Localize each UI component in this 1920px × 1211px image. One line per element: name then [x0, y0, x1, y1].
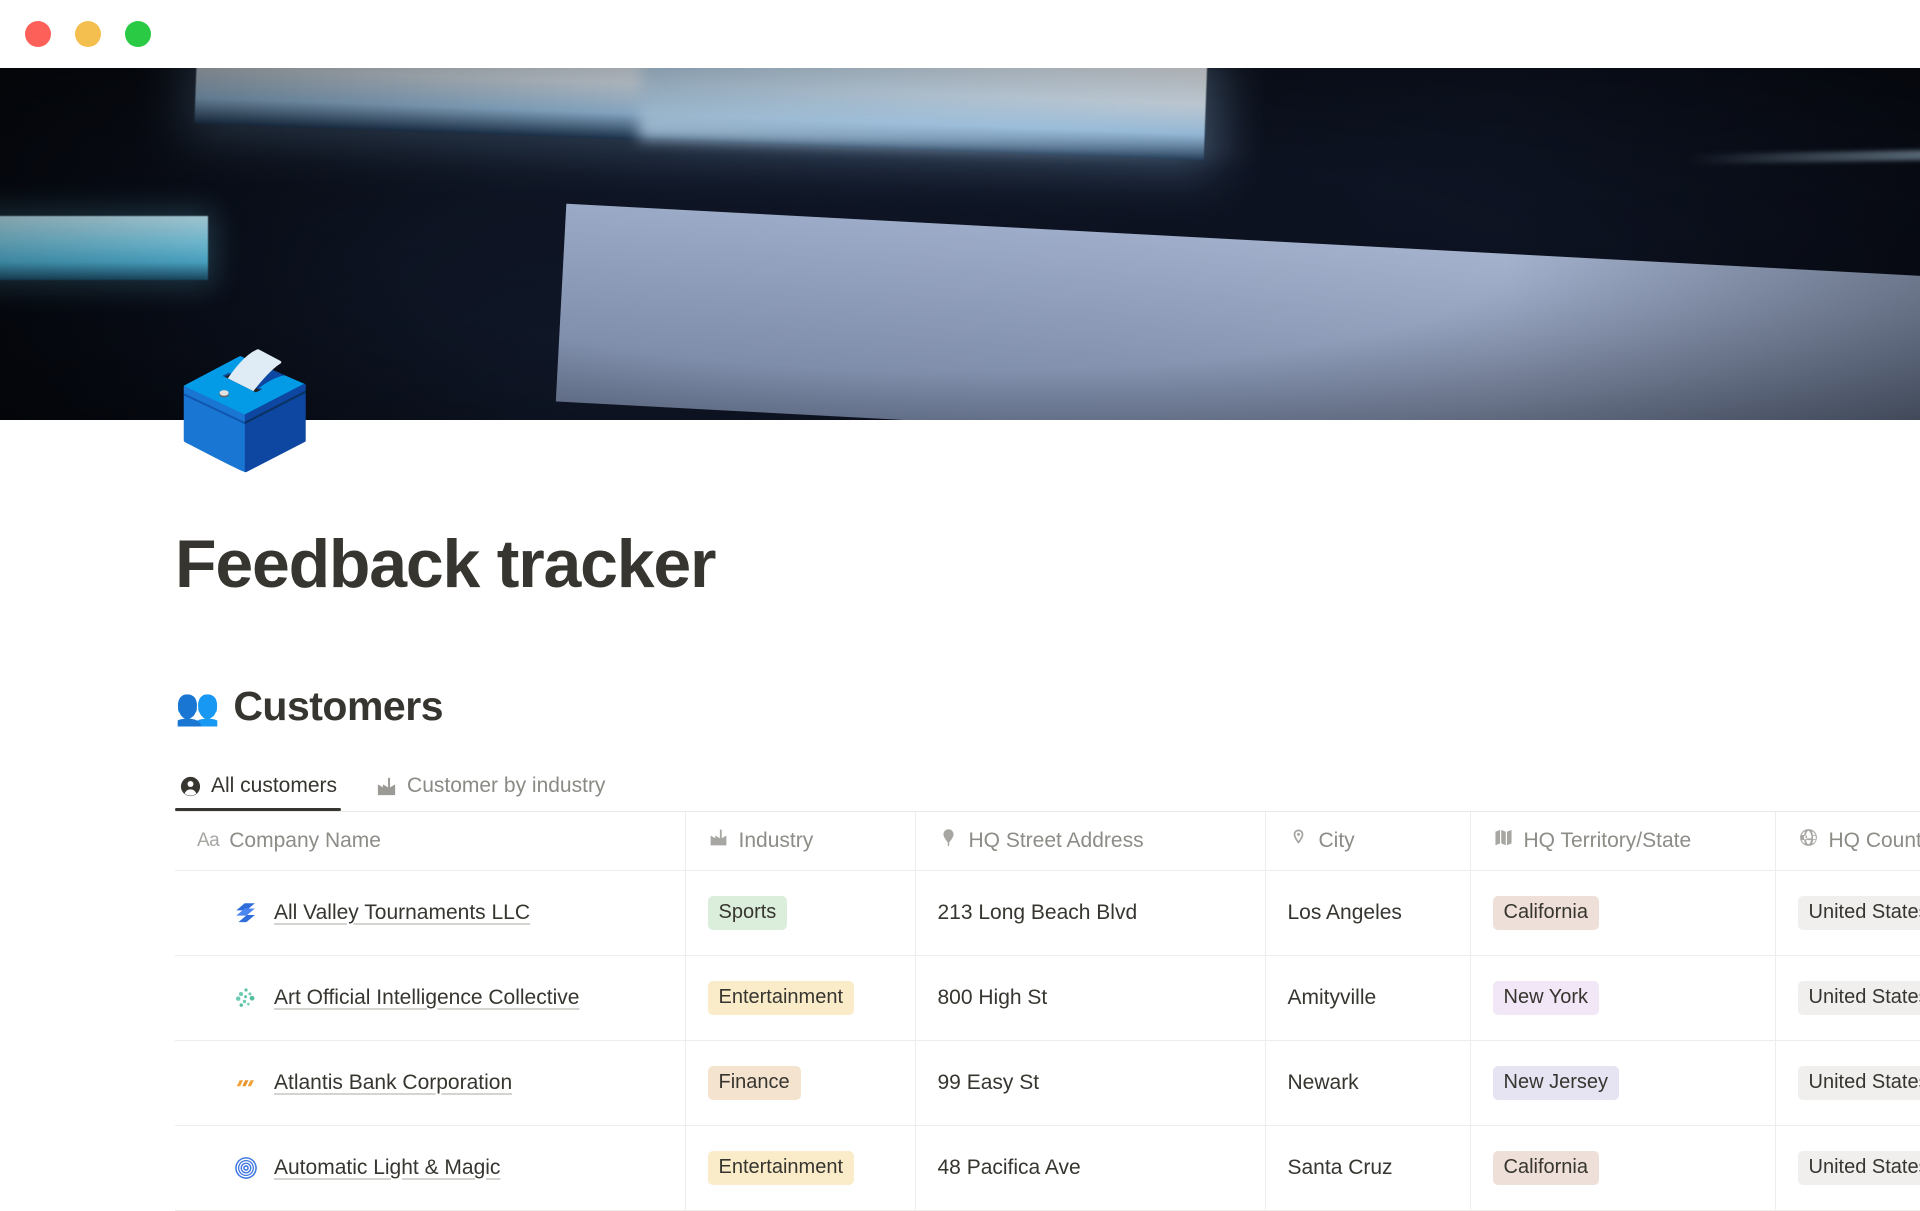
company-name-link[interactable]: Atlantis Bank Corporation — [274, 1071, 512, 1095]
table-body: All Valley Tournaments LLC Sports 213 Lo… — [175, 870, 1920, 1210]
traffic-light-group — [25, 21, 151, 47]
table-row[interactable]: Atlantis Bank Corporation Finance 99 Eas… — [175, 1040, 1920, 1125]
table-row[interactable]: All Valley Tournaments LLC Sports 213 Lo… — [175, 870, 1920, 955]
cell-industry[interactable]: Entertainment — [685, 1125, 915, 1210]
database-view-tabs: All customers Customer by industry — [175, 759, 1920, 811]
cell-city[interactable]: Amityville — [1265, 955, 1470, 1040]
cell-company-name[interactable]: Atlantis Bank Corporation — [175, 1040, 685, 1125]
cell-hq-territory-state[interactable]: California — [1470, 870, 1775, 955]
cell-city[interactable]: Los Angeles — [1265, 870, 1470, 955]
table-header: Aa Company Name Industry — [175, 812, 1920, 870]
tab-customer-by-industry-label: Customer by industry — [407, 774, 605, 798]
column-header-city[interactable]: City — [1265, 812, 1470, 870]
table-header-row: Aa Company Name Industry — [175, 812, 1920, 870]
column-header-hq-territory-state[interactable]: HQ Territory/State — [1470, 812, 1775, 870]
state-tag: California — [1493, 896, 1599, 930]
cell-hq-street-address[interactable]: 800 High St — [915, 955, 1265, 1040]
page-title[interactable]: Feedback tracker — [175, 530, 1920, 598]
page-icon[interactable]: 🗳️ — [175, 345, 307, 477]
table-row[interactable]: Automatic Light & Magic Entertainment 48… — [175, 1125, 1920, 1210]
industry-tag: Entertainment — [708, 1151, 855, 1185]
cell-company-name[interactable]: Automatic Light & Magic — [175, 1125, 685, 1210]
tab-all-customers[interactable]: All customers — [175, 774, 341, 811]
section-heading-customers: 👥 Customers — [175, 684, 1920, 729]
map-folded-icon — [1493, 827, 1514, 854]
aa-text-icon: Aa — [197, 830, 219, 852]
industry-tag: Finance — [708, 1066, 801, 1100]
cell-hq-territory-state[interactable]: California — [1470, 1125, 1775, 1210]
factory-icon — [708, 827, 729, 854]
column-header-company-name[interactable]: Aa Company Name — [175, 812, 685, 870]
minimize-button[interactable] — [75, 21, 101, 47]
cell-company-name[interactable]: Art Official Intelligence Collective — [175, 955, 685, 1040]
cell-hq-country[interactable]: United States — [1775, 955, 1920, 1040]
country-tag: United States — [1798, 896, 1920, 930]
cell-hq-country[interactable]: United States — [1775, 870, 1920, 955]
cell-city[interactable]: Santa Cruz — [1265, 1125, 1470, 1210]
orange-stripes-icon — [233, 1070, 259, 1096]
globe-icon — [1798, 827, 1819, 854]
table-row[interactable]: Art Official Intelligence Collective Ent… — [175, 955, 1920, 1040]
column-header-hq-street-address-label: HQ Street Address — [969, 829, 1144, 853]
section-heading-label: Customers — [233, 684, 443, 729]
column-header-hq-street-address[interactable]: HQ Street Address — [915, 812, 1265, 870]
people-emoji-icon: 👥 — [175, 687, 219, 727]
column-header-industry-label: Industry — [739, 829, 814, 853]
column-header-industry[interactable]: Industry — [685, 812, 915, 870]
company-name-link[interactable]: Automatic Light & Magic — [274, 1156, 500, 1180]
map-pin-filled-icon — [938, 827, 959, 854]
person-icon — [179, 775, 202, 798]
column-header-hq-country-label: HQ Country — [1829, 829, 1920, 853]
window-titlebar — [0, 0, 1920, 68]
maximize-button[interactable] — [125, 21, 151, 47]
cell-city[interactable]: Newark — [1265, 1040, 1470, 1125]
state-tag: New York — [1493, 981, 1600, 1015]
cell-hq-street-address[interactable]: 99 Easy St — [915, 1040, 1265, 1125]
cell-industry[interactable]: Entertainment — [685, 955, 915, 1040]
industry-tag: Entertainment — [708, 981, 855, 1015]
factory-icon — [375, 775, 398, 798]
column-header-hq-territory-state-label: HQ Territory/State — [1524, 829, 1692, 853]
tab-customer-by-industry[interactable]: Customer by industry — [371, 774, 609, 811]
cell-company-name[interactable]: All Valley Tournaments LLC — [175, 870, 685, 955]
column-header-company-name-label: Company Name — [229, 829, 381, 853]
cell-hq-country[interactable]: United States — [1775, 1125, 1920, 1210]
cell-industry[interactable]: Sports — [685, 870, 915, 955]
page-content: 🗳️ Feedback tracker 👥 Customers All cust… — [0, 420, 1920, 1211]
country-tag: United States — [1798, 1066, 1920, 1100]
teal-dots-icon — [233, 985, 259, 1011]
customers-table: Aa Company Name Industry — [175, 812, 1920, 1211]
cell-hq-territory-state[interactable]: New Jersey — [1470, 1040, 1775, 1125]
state-tag: California — [1493, 1151, 1599, 1185]
blue-spiral-icon — [233, 1155, 259, 1181]
industry-tag: Sports — [708, 896, 788, 930]
cell-hq-street-address[interactable]: 213 Long Beach Blvd — [915, 870, 1265, 955]
cell-industry[interactable]: Finance — [685, 1040, 915, 1125]
cell-hq-territory-state[interactable]: New York — [1470, 955, 1775, 1040]
customers-table-container[interactable]: Aa Company Name Industry — [175, 811, 1920, 1211]
cell-hq-country[interactable]: United States — [1775, 1040, 1920, 1125]
country-tag: United States — [1798, 981, 1920, 1015]
map-pin-outline-icon — [1288, 827, 1309, 854]
column-header-hq-country[interactable]: HQ Country — [1775, 812, 1920, 870]
company-name-link[interactable]: All Valley Tournaments LLC — [274, 901, 530, 925]
blue-layers-icon — [233, 900, 259, 926]
state-tag: New Jersey — [1493, 1066, 1619, 1100]
cell-hq-street-address[interactable]: 48 Pacifica Ave — [915, 1125, 1265, 1210]
country-tag: United States — [1798, 1151, 1920, 1185]
company-name-link[interactable]: Art Official Intelligence Collective — [274, 986, 579, 1010]
close-button[interactable] — [25, 21, 51, 47]
column-header-city-label: City — [1319, 829, 1355, 853]
tab-all-customers-label: All customers — [211, 774, 337, 798]
